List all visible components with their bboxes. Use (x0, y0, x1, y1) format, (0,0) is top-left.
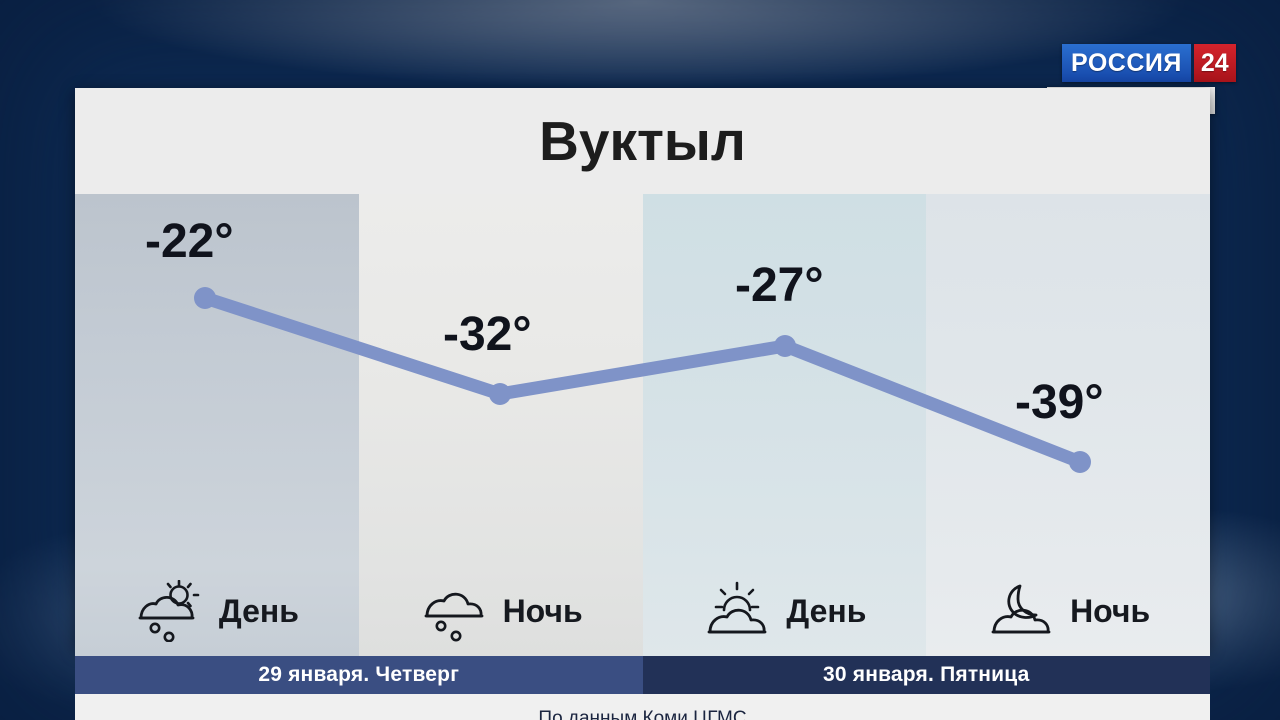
weather-panel: Вуктыл -22° -32° -27° -39° (75, 88, 1210, 650)
sun-cloud-snow-icon (135, 580, 207, 642)
daypart-label-0: День (219, 595, 299, 627)
channel-name-label: РОССИЯ (1062, 44, 1191, 82)
page-title: Вуктыл (539, 114, 746, 169)
broadcast-screen: РОССИЯ 24 КОМИ Вуктыл -22° -32° -27° (0, 0, 1280, 720)
channel-number-label: 24 (1194, 44, 1236, 82)
date-bar: 29 января. Четверг 30 января. Пятница (75, 656, 1210, 694)
temperature-label-0: -22° (145, 218, 234, 266)
daypart-cell-1: Ночь (359, 566, 643, 656)
daypart-cell-2: День (643, 566, 927, 656)
daypart-label-3: Ночь (1070, 595, 1150, 627)
daypart-label-2: День (786, 595, 866, 627)
source-note: По данным Коми ЦГМС (538, 708, 746, 720)
daypart-cell-0: День (75, 566, 359, 656)
temperature-label-2: -27° (735, 262, 824, 310)
channel-logo: РОССИЯ 24 (1062, 44, 1236, 82)
date-label-0: 29 января. Четверг (75, 656, 643, 694)
temperature-labels: -22° -32° -27° -39° (75, 194, 1210, 566)
temperature-label-3: -39° (1015, 379, 1104, 427)
moon-cloud-icon (986, 580, 1058, 642)
panel-header: Вуктыл (75, 88, 1210, 194)
cloud-snow-icon (419, 580, 491, 642)
date-label-1: 30 января. Пятница (643, 656, 1211, 694)
sun-cloud-icon (702, 580, 774, 642)
daypart-cell-3: Ночь (926, 566, 1210, 656)
temperature-label-1: -32° (443, 311, 532, 359)
daypart-row: День Ночь (75, 566, 1210, 656)
source-footer: По данным Коми ЦГМС (75, 694, 1210, 720)
daypart-label-1: Ночь (503, 595, 583, 627)
